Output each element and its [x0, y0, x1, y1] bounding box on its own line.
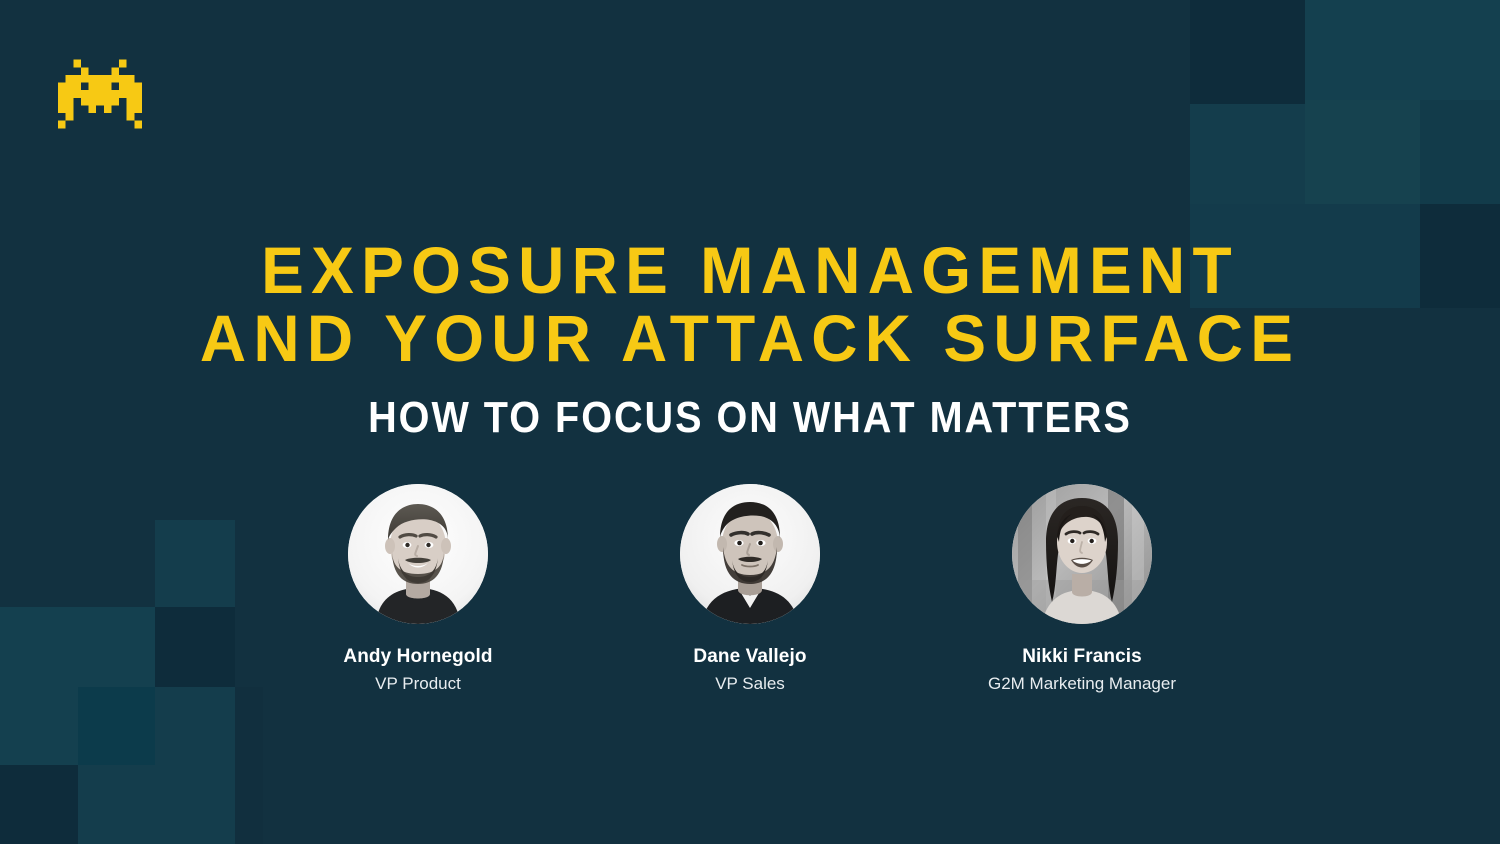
- speaker-role: VP Sales: [650, 673, 850, 695]
- avatar: [1012, 484, 1152, 624]
- speaker-role: G2M Marketing Manager: [982, 673, 1182, 695]
- speaker-card: Andy Hornegold VP Product: [318, 484, 518, 695]
- background-square: [1190, 0, 1305, 118]
- portrait-bearded-man-avatar: [348, 484, 488, 624]
- avatar: [348, 484, 488, 624]
- background-square: [155, 687, 235, 844]
- page-subtitle: HOW TO FOCUS ON WHAT MATTERS: [75, 394, 1425, 442]
- speaker-card: Nikki Francis G2M Marketing Manager: [982, 484, 1182, 695]
- background-square: [235, 687, 263, 844]
- hero-headings: EXPOSURE MANAGEMENT AND YOUR ATTACK SURF…: [0, 236, 1500, 442]
- background-square: [1420, 100, 1500, 204]
- webinar-title-slide: EXPOSURE MANAGEMENT AND YOUR ATTACK SURF…: [0, 0, 1500, 844]
- speaker-list: Andy Hornegold VP Product: [0, 484, 1500, 695]
- speaker-card: Dane Vallejo VP Sales: [650, 484, 850, 695]
- background-square: [1305, 100, 1420, 204]
- brand-logo: [58, 52, 142, 136]
- background-square: [1190, 104, 1305, 204]
- portrait-man-dark-jacket-avatar: [680, 484, 820, 624]
- page-title-line-1: EXPOSURE MANAGEMENT: [23, 236, 1478, 304]
- avatar: [680, 484, 820, 624]
- background-square: [78, 687, 158, 765]
- background-square: [0, 687, 78, 765]
- space-invader-icon: [58, 52, 142, 136]
- portrait-woman-long-hair-avatar: [1012, 484, 1152, 624]
- background-square: [78, 765, 235, 844]
- speaker-name: Andy Hornegold: [318, 645, 518, 669]
- speaker-name: Dane Vallejo: [650, 645, 850, 669]
- page-title-line-2: AND YOUR ATTACK SURFACE: [23, 304, 1478, 372]
- background-square: [1305, 0, 1500, 100]
- speaker-name: Nikki Francis: [982, 645, 1182, 669]
- background-square: [0, 765, 78, 844]
- speaker-role: VP Product: [318, 673, 518, 695]
